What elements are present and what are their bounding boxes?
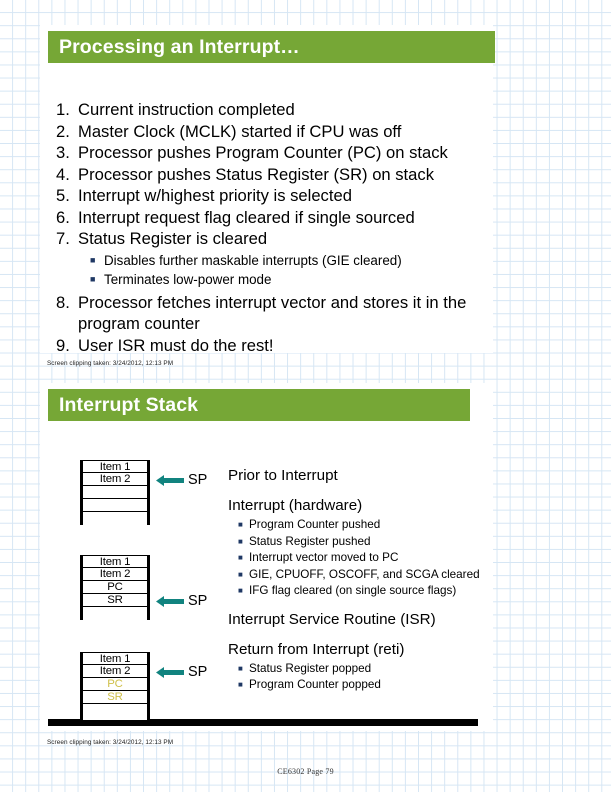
stack-cell: SR — [80, 594, 150, 607]
stack-cell-empty — [80, 512, 150, 525]
stack-after-reti: Item 1 Item 2 PC SR — [80, 652, 150, 717]
list-text: Processor pushes Program Counter (PC) on… — [78, 142, 496, 163]
stack-diagram-baseline-rule — [48, 719, 478, 726]
sub-list-text: Terminates low-power mode — [104, 270, 271, 289]
list-item: 1. Current instruction completed — [56, 99, 496, 120]
list-marker: 2. — [56, 121, 78, 142]
sub-list: Disables further maskable interrupts (GI… — [56, 251, 496, 289]
screen-clipping-caption: Screen clipping taken: 3/24/2012, 12:13 … — [47, 360, 173, 367]
list-marker: 8. — [56, 292, 78, 313]
stack-prior-to-interrupt: Item 1 Item 2 — [80, 460, 150, 525]
list-text: Current instruction completed — [78, 99, 496, 120]
stack-pointer-label: SP — [188, 665, 207, 679]
stack-cell: Item 2 — [80, 473, 150, 486]
bullet-text: Status Register popped — [249, 661, 490, 677]
stack-pointer-label: SP — [188, 473, 207, 487]
list-marker: 6. — [56, 207, 78, 228]
list-item: 7. Status Register is cleared — [56, 228, 496, 249]
bullet-item: GIE, CPUOFF, OSCOFF, and SCGA cleared — [228, 567, 490, 583]
list-item: 3. Processor pushes Program Counter (PC)… — [56, 142, 496, 163]
stack-cell-empty — [80, 607, 150, 620]
stack-cell: Item 1 — [80, 555, 150, 568]
bullet-text: Interrupt vector moved to PC — [249, 550, 490, 566]
stack-cell: Item 1 — [80, 460, 150, 473]
list-item: 6. Interrupt request flag cleared if sin… — [56, 207, 496, 228]
square-bullet-icon — [90, 251, 104, 270]
square-bullet-icon — [238, 534, 249, 550]
list-item: 8. Processor fetches interrupt vector an… — [56, 292, 496, 334]
phase-heading-return-from-interrupt: Return from Interrupt (reti) — [228, 640, 490, 659]
stack-rails-baseline-notch — [80, 712, 150, 720]
phase-heading-interrupt-hardware: Interrupt (hardware) — [228, 496, 490, 515]
bullet-item: Status Register popped — [228, 661, 490, 677]
bullet-text: Status Register pushed — [249, 534, 490, 550]
stack-cell: Item 2 — [80, 568, 150, 581]
processing-steps-list: 1. Current instruction completed 2. Mast… — [56, 99, 496, 356]
square-bullet-icon — [238, 583, 249, 599]
stack-cell-popped: SR — [80, 691, 150, 704]
square-bullet-icon — [90, 270, 104, 289]
phase-bullet-list-interrupt-hardware: Program Counter pushed Status Register p… — [228, 517, 490, 599]
square-bullet-icon — [238, 567, 249, 583]
list-text: User ISR must do the rest! — [78, 335, 496, 356]
list-item: 5. Interrupt w/highest priority is selec… — [56, 185, 496, 206]
stack-cell-empty — [80, 499, 150, 512]
list-text: Interrupt request flag cleared if single… — [78, 207, 496, 228]
list-text: Processor fetches interrupt vector and s… — [78, 292, 496, 334]
page-footer: CE6302 Page 79 — [0, 767, 611, 776]
stack-cell: PC — [80, 581, 150, 594]
sub-list-item: Terminates low-power mode — [56, 270, 496, 289]
slide-title-interrupt-stack: Interrupt Stack — [48, 389, 470, 421]
list-marker: 7. — [56, 228, 78, 249]
phase-bullet-list-return-from-interrupt: Status Register popped Program Counter p… — [228, 661, 490, 693]
sub-list-item: Disables further maskable interrupts (GI… — [56, 251, 496, 270]
bullet-item: Status Register pushed — [228, 534, 490, 550]
stack-after-push: Item 1 Item 2 PC SR — [80, 555, 150, 620]
bullet-text: IFG flag cleared (on single source flags… — [249, 583, 490, 599]
bullet-item: Program Counter popped — [228, 677, 490, 693]
square-bullet-icon — [238, 677, 249, 693]
list-marker: 3. — [56, 142, 78, 163]
list-text: Master Clock (MCLK) started if CPU was o… — [78, 121, 496, 142]
phase-heading-interrupt-service-routine: Interrupt Service Routine (ISR) — [228, 610, 490, 629]
left-arrow-icon — [156, 595, 184, 608]
left-arrow-icon — [156, 474, 184, 487]
bullet-text: GIE, CPUOFF, OSCOFF, and SCGA cleared — [249, 567, 490, 583]
bullet-text: Program Counter popped — [249, 677, 490, 693]
list-marker: 5. — [56, 185, 78, 206]
bullet-text: Program Counter pushed — [249, 517, 490, 533]
stack-pointer-marker-1: SP — [156, 473, 207, 487]
slide-title-processing-an-interrupt: Processing an Interrupt… — [48, 31, 495, 63]
list-text: Status Register is cleared — [78, 228, 496, 249]
list-item: 9. User ISR must do the rest! — [56, 335, 496, 356]
stack-cell-empty — [80, 486, 150, 499]
sub-list-text: Disables further maskable interrupts (GI… — [104, 251, 402, 270]
stack-cell: Item 1 — [80, 652, 150, 665]
stack-cell: Item 2 — [80, 665, 150, 678]
list-item: 4. Processor pushes Status Register (SR)… — [56, 164, 496, 185]
stack-pointer-marker-3: SP — [156, 665, 207, 679]
bullet-item: Interrupt vector moved to PC — [228, 550, 490, 566]
list-text: Interrupt w/highest priority is selected — [78, 185, 496, 206]
screen-clipping-caption: Screen clipping taken: 3/24/2012, 12:13 … — [47, 739, 173, 746]
list-text: Processor pushes Status Register (SR) on… — [78, 164, 496, 185]
square-bullet-icon — [238, 661, 249, 677]
square-bullet-icon — [238, 517, 249, 533]
list-marker: 9. — [56, 335, 78, 356]
bullet-item: IFG flag cleared (on single source flags… — [228, 583, 490, 599]
list-marker: 4. — [56, 164, 78, 185]
list-item: 2. Master Clock (MCLK) started if CPU wa… — [56, 121, 496, 142]
list-marker: 1. — [56, 99, 78, 120]
stack-pointer-marker-2: SP — [156, 594, 207, 608]
interrupt-phase-descriptions: Prior to Interrupt Interrupt (hardware) … — [228, 466, 490, 694]
phase-heading-prior-to-interrupt: Prior to Interrupt — [228, 466, 490, 485]
bullet-item: Program Counter pushed — [228, 517, 490, 533]
stack-pointer-label: SP — [188, 594, 207, 608]
left-arrow-icon — [156, 666, 184, 679]
stack-cell-popped: PC — [80, 678, 150, 691]
square-bullet-icon — [238, 550, 249, 566]
